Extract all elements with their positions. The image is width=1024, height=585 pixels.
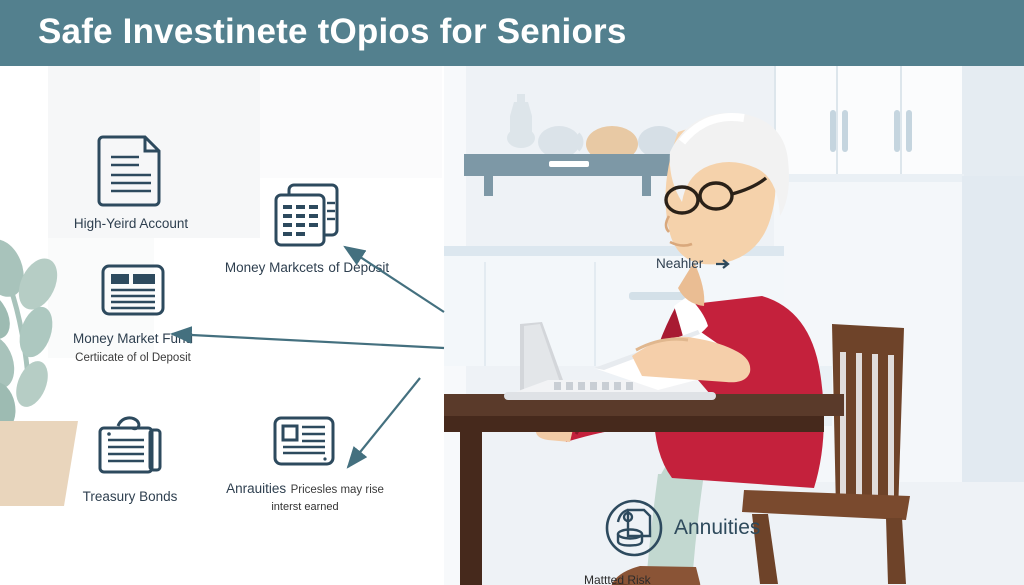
stacked-papers-icon — [271, 181, 343, 251]
newspaper-icon — [97, 262, 169, 322]
small-arrow-icon — [716, 258, 732, 270]
risk-line-1: Mattted Risk — [584, 572, 651, 585]
kitchen-scene-svg — [444, 66, 1024, 585]
node-label-line2: of Deposit — [328, 260, 389, 275]
article-card-icon — [270, 414, 340, 472]
node-money-market-fund[interactable]: Money Market Fund Certiicate of ol Depos… — [28, 262, 238, 366]
coins-document-icon — [604, 498, 664, 558]
node-label: Money Market Fund — [73, 331, 193, 346]
node-subtext-line2: interst earned — [210, 500, 400, 515]
node-annuities-left[interactable]: Anrauities Pricesles may rise interst ea… — [210, 414, 400, 515]
node-high-yield-account[interactable]: High-Yeird Account — [36, 131, 226, 233]
briefcase-document-icon — [92, 414, 168, 480]
node-treasury-bonds[interactable]: Treasury Bonds — [30, 414, 230, 506]
page-header: Safe Investinete tOpios for Seniors — [0, 0, 1024, 66]
node-money-markets-of-deposit[interactable]: Money Markcets of Deposit — [212, 181, 402, 277]
scene-annuities-label: Annuities — [674, 516, 760, 540]
diagram-panel: High-Yeird Account Money Markcets — [0, 66, 444, 585]
card-background — [260, 66, 442, 178]
scene-illustration: Neahler Annuities Mattted Risk Inflation… — [444, 66, 1024, 585]
document-lines-icon — [93, 131, 169, 207]
node-label: Treasury Bonds — [83, 489, 178, 504]
node-subtext: Pricesles may rise — [291, 484, 384, 496]
page-title: Safe Investinete tOpios for Seniors — [38, 12, 627, 52]
node-label: Money Markcets — [225, 260, 324, 275]
illustration-root: Safe Investinete tOpios for Seniors — [0, 0, 1024, 585]
node-label: Anrauities — [226, 481, 286, 496]
pointer-label: Neahler — [656, 256, 703, 271]
node-subtext: Certiicate of ol Deposit — [75, 352, 191, 364]
node-label: High-Yeird Account — [74, 216, 188, 231]
